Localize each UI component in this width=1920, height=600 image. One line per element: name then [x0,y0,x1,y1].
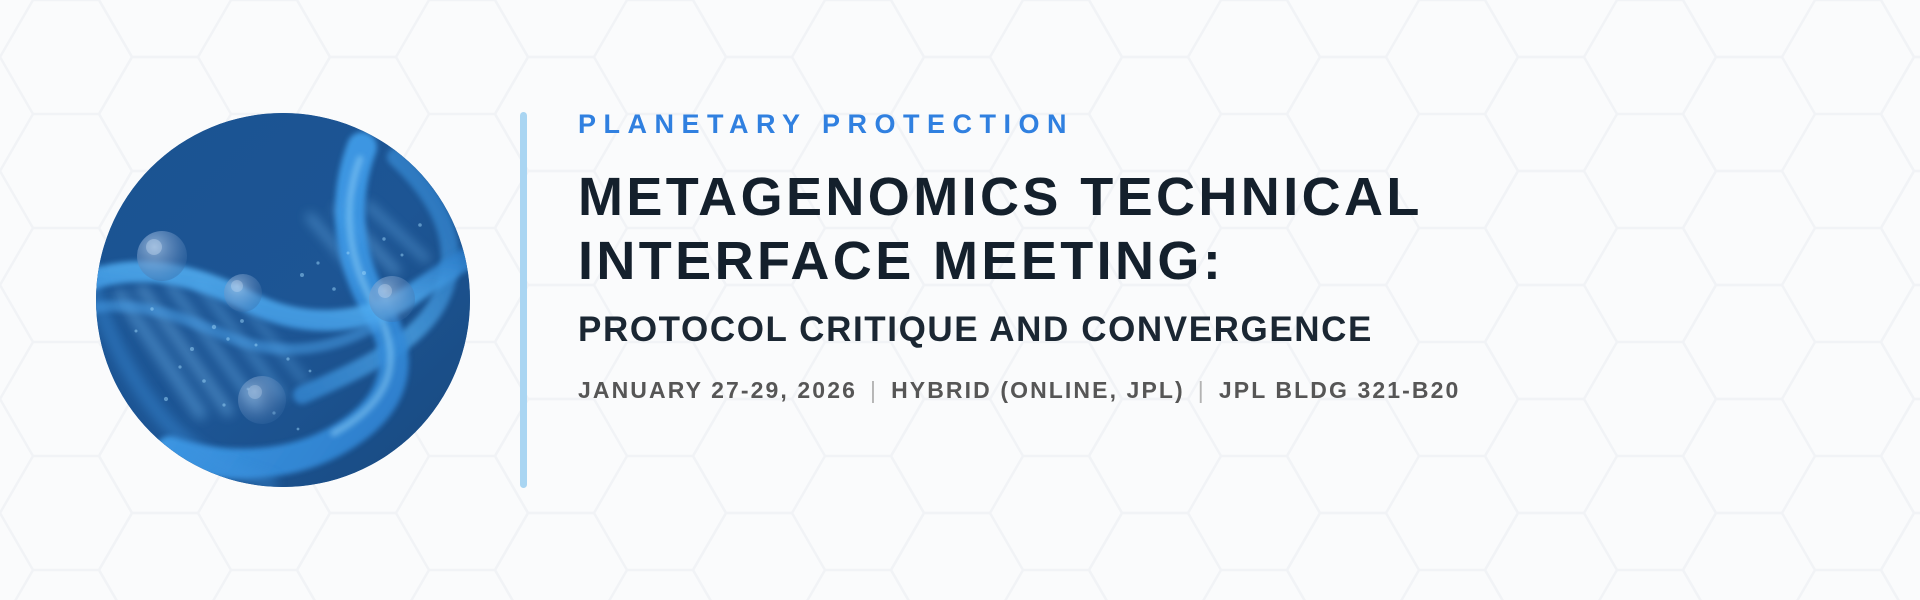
eyebrow-label: PLANETARY PROTECTION [578,108,1858,140]
event-banner: PLANETARY PROTECTION METAGENOMICS TECHNI… [0,0,1920,600]
headline-line-2: INTERFACE MEETING: [578,230,1858,293]
event-details: JANUARY 27-29, 2026 | HYBRID (ONLINE, JP… [578,377,1858,405]
event-dates: JANUARY 27-29, 2026 [578,377,857,405]
page-title: METAGENOMICS TECHNICAL INTERFACE MEETING… [578,166,1858,292]
headline-line-1: METAGENOMICS TECHNICAL [578,166,1858,229]
emblem-container [96,113,470,487]
vertical-accent-rule [520,112,527,488]
event-venue: JPL BLDG 321-B20 [1219,377,1461,405]
dna-double-helix-circle-image [96,113,470,487]
event-format: HYBRID (ONLINE, JPL) [891,377,1185,405]
meta-separator-2: | [1185,377,1219,405]
banner-text-block: PLANETARY PROTECTION METAGENOMICS TECHNI… [578,108,1858,404]
meta-separator-1: | [857,377,891,405]
page-subtitle: PROTOCOL CRITIQUE AND CONVERGENCE [578,309,1858,351]
